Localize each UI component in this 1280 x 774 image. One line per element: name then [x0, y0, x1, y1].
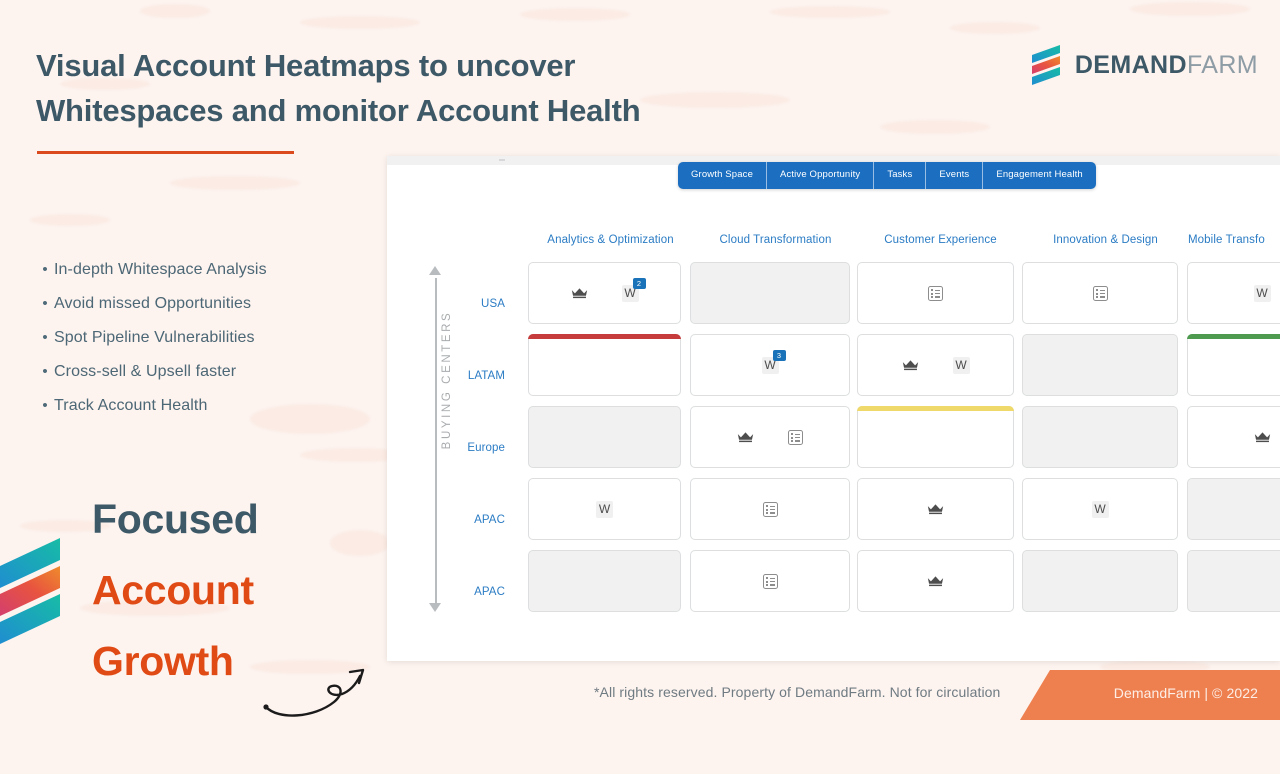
cell-icons: W [529, 479, 680, 539]
cell-status-bar-green [1187, 334, 1280, 339]
cell-icons [1023, 263, 1177, 323]
list-item: • Spot Pipeline Vulnerabilities [36, 326, 366, 349]
heatmap-cell[interactable] [857, 262, 1014, 324]
cell-icons [691, 407, 849, 467]
crown-icon [571, 287, 588, 299]
crown-icon [902, 359, 919, 371]
tab-growth-space[interactable]: Growth Space [678, 162, 767, 189]
whitespace-icon[interactable]: W2 [622, 285, 639, 302]
cell-icons: W [1023, 479, 1177, 539]
cell-icons [1188, 407, 1280, 467]
bullet-dot: • [36, 394, 54, 417]
benefits-list: • In-depth Whitespace Analysis • Avoid m… [36, 258, 366, 428]
tab-engagement-health[interactable]: Engagement Health [983, 162, 1096, 189]
task-icon[interactable] [928, 286, 943, 301]
heatmap-cell[interactable]: W [1022, 478, 1178, 540]
app-screenshot-panel: Growth Space Active Opportunity Tasks Ev… [387, 156, 1280, 661]
list-item-label: Avoid missed Opportunities [54, 292, 251, 315]
crown-icon [927, 575, 944, 587]
cell-icons [858, 551, 1013, 611]
list-item: • In-depth Whitespace Analysis [36, 258, 366, 281]
whitespace-icon[interactable]: W [596, 501, 613, 518]
cell-status-bar-red [528, 334, 681, 339]
whitespace-count-badge: 3 [773, 350, 786, 361]
cell-icons [691, 479, 849, 539]
heatmap-cell[interactable] [857, 406, 1014, 468]
cell-icons [858, 263, 1013, 323]
footer-copyright-tag: DemandFarm | © 2022 [990, 670, 1280, 720]
task-icon[interactable] [763, 502, 778, 517]
heatmap-cell[interactable]: W3 [690, 334, 850, 396]
heatmap-cell[interactable] [1187, 406, 1280, 468]
heatmap-cell[interactable] [690, 262, 850, 324]
bullet-dot: • [36, 360, 54, 383]
tab-events[interactable]: Events [926, 162, 983, 189]
cell-icons: W2 [529, 263, 680, 323]
list-item-label: Spot Pipeline Vulnerabilities [54, 326, 255, 349]
heatmap-cell[interactable]: W [1187, 262, 1280, 324]
heatmap-cell[interactable] [690, 478, 850, 540]
brand-wordmark-light: FARM [1187, 51, 1258, 79]
heatmap-cell[interactable] [690, 550, 850, 612]
crown-icon [1254, 431, 1271, 443]
footer-disclaimer: *All rights reserved. Property of Demand… [594, 684, 1000, 700]
task-icon[interactable] [1093, 286, 1108, 301]
column-headers: Analytics & Optimization Cloud Transform… [387, 230, 1280, 250]
list-item-label: Track Account Health [54, 394, 207, 417]
row-label-latam: LATAM [435, 370, 505, 382]
tagline-line-2: Account [92, 555, 392, 626]
bullet-dot: • [36, 258, 54, 281]
axis-arrow-down-icon [429, 603, 441, 612]
demandfarm-logo-mark [0, 538, 84, 650]
column-header-customer-experience: Customer Experience [858, 230, 1023, 250]
tagline-line-1: Focused [92, 484, 392, 555]
column-header-mobile-transformation: Mobile Transfo [1188, 230, 1280, 250]
tab-active-opportunity[interactable]: Active Opportunity [767, 162, 874, 189]
heatmap-cell[interactable]: W [528, 478, 681, 540]
row-label-apac-1: APAC [435, 514, 505, 526]
bullet-dot: • [36, 326, 54, 349]
title-underline [37, 151, 294, 154]
heatmap-cell[interactable] [857, 478, 1014, 540]
task-icon[interactable] [763, 574, 778, 589]
heatmap-cell[interactable] [1022, 406, 1178, 468]
whitespace-icon[interactable]: W [953, 357, 970, 374]
heatmap-cell[interactable] [1187, 550, 1280, 612]
tab-tasks[interactable]: Tasks [874, 162, 926, 189]
cell-icons [691, 551, 849, 611]
heatmap-cell[interactable]: W2 [528, 262, 681, 324]
cell-icons: W [858, 335, 1013, 395]
heatmap-cell[interactable] [528, 406, 681, 468]
whitespace-icon[interactable]: W [1092, 501, 1109, 518]
column-header-innovation-design: Innovation & Design [1023, 230, 1188, 250]
whitespace-icon[interactable]: W3 [762, 357, 779, 374]
task-icon[interactable] [788, 430, 803, 445]
row-label-apac-2: APAC [435, 586, 505, 598]
brand-wordmark: DEMANDFARM [1075, 53, 1258, 78]
heatmap-cell[interactable] [1022, 334, 1178, 396]
heatmap-cell[interactable] [690, 406, 850, 468]
heatmap-cell[interactable]: W [857, 334, 1014, 396]
page-title: Visual Account Heatmaps to uncover White… [36, 43, 696, 133]
heatmap-cell[interactable] [1022, 550, 1178, 612]
cell-icons: W3 [691, 335, 849, 395]
heatmap-cell[interactable] [1187, 478, 1280, 540]
axis-arrow-up-icon [429, 266, 441, 275]
demandfarm-logo-icon [1030, 44, 1064, 86]
heatmap-cell[interactable] [1022, 262, 1178, 324]
row-label-usa: USA [435, 298, 505, 310]
whitespace-icon[interactable]: W [1254, 285, 1271, 302]
list-item: • Cross-sell & Upsell faster [36, 360, 366, 383]
crown-icon [737, 431, 754, 443]
crown-icon [927, 503, 944, 515]
column-header-analytics-optimization: Analytics & Optimization [528, 230, 693, 250]
cell-icons [858, 479, 1013, 539]
tab-bar[interactable]: Growth Space Active Opportunity Tasks Ev… [678, 162, 1096, 189]
cell-status-bar-yellow [857, 406, 1014, 411]
heatmap-cell[interactable] [857, 550, 1014, 612]
bullet-dot: • [36, 292, 54, 315]
list-item: • Avoid missed Opportunities [36, 292, 366, 315]
footer-copyright-label: DemandFarm | © 2022 [1114, 685, 1258, 701]
heatmap-cell[interactable] [528, 334, 681, 396]
list-item-label: Cross-sell & Upsell faster [54, 360, 236, 383]
list-item: • Track Account Health [36, 394, 366, 417]
brand-wordmark-bold: DEMAND [1075, 51, 1187, 79]
whitespace-count-badge: 2 [633, 278, 646, 289]
row-label-europe: Europe [435, 442, 505, 454]
list-item-label: In-depth Whitespace Analysis [54, 258, 267, 281]
curved-arrow-icon [262, 662, 372, 718]
cell-icons: W [1188, 263, 1280, 323]
brand-logo: DEMANDFARM [1030, 44, 1258, 86]
heatmap-cell[interactable] [1187, 334, 1280, 396]
heatmap-cell[interactable] [528, 550, 681, 612]
column-header-cloud-transformation: Cloud Transformation [693, 230, 858, 250]
